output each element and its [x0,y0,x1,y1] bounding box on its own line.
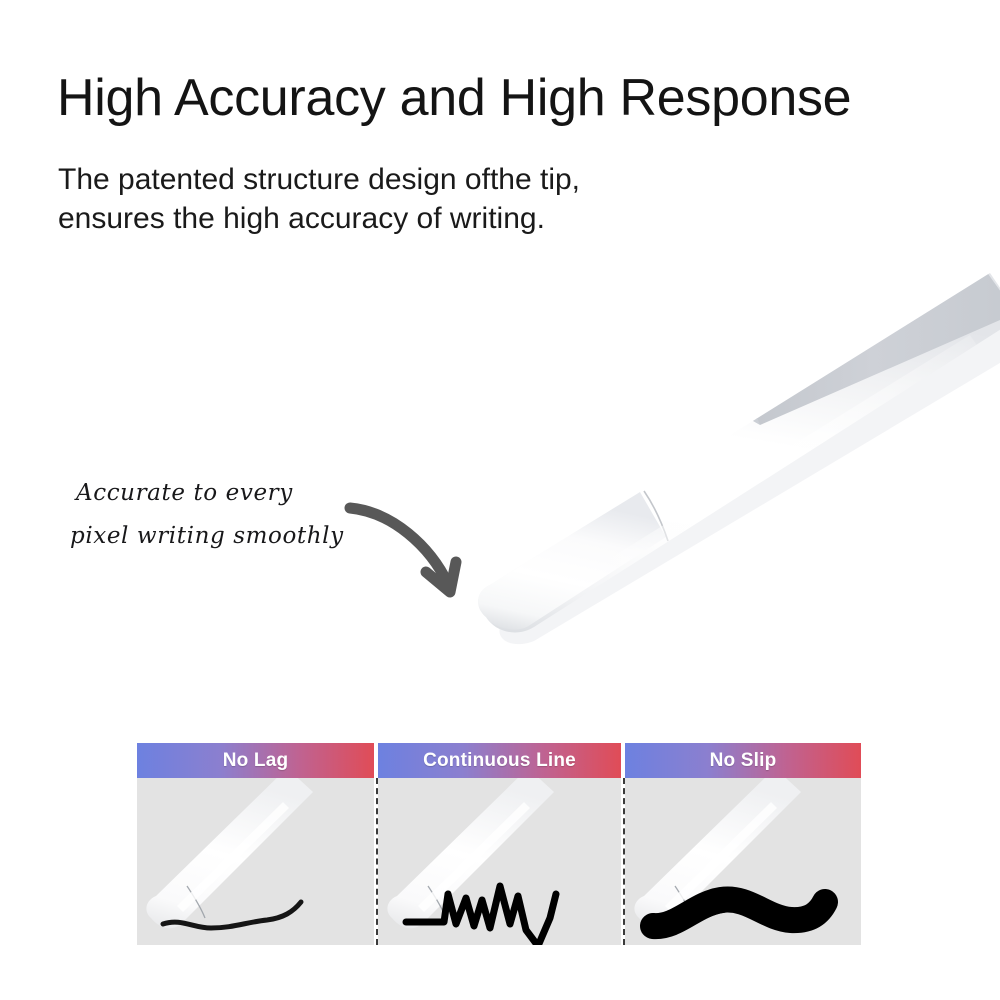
panel-stylus [146,778,313,928]
panel-divider-1 [376,778,378,945]
feature-body-no-slip [625,778,861,945]
feature-panel-no-lag: No Lag [137,743,374,945]
stylus-svg [430,255,1000,655]
page-subtitle: The patented structure design ofthe tip,… [58,160,758,238]
panel-stylus-highlight [177,802,289,912]
stylus-facet-cap [724,381,760,425]
feature-panels: No Lag [137,743,861,945]
stylus-illustration [430,255,1000,655]
page-title: High Accuracy and High Response [57,68,957,128]
continuous-line-illustration [378,778,621,945]
marketing-image-canvas: High Accuracy and High Response The pate… [0,0,1000,1000]
feature-header-no-slip: No Slip [625,743,861,778]
stylus-highlight [580,335,978,591]
curved-arrow-icon [330,480,510,620]
feature-panel-continuous-line: Continuous Line [378,743,621,945]
subtitle-line-1: The patented structure design ofthe tip, [58,160,758,199]
feature-header-no-lag: No Lag [137,743,374,778]
panel-stylus-highlight [418,802,530,912]
no-lag-illustration [137,778,374,945]
feature-body-continuous-line [378,778,621,945]
panel-divider-2 [623,778,625,945]
feature-body-no-lag [137,778,374,945]
feature-panel-no-slip: No Slip [625,743,861,945]
feature-header-continuous-line: Continuous Line [378,743,621,778]
annotation-arrow [330,480,510,620]
no-slip-illustration [625,778,861,945]
subtitle-line-2: ensures the high accuracy of writing. [58,199,758,238]
